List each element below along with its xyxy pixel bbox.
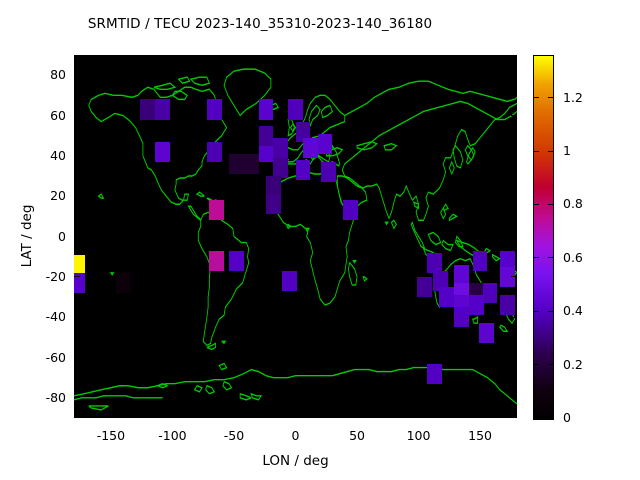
y-tick-mark <box>74 276 80 277</box>
y-tick-label: 40 <box>18 148 66 163</box>
y-tick-mark <box>74 196 80 197</box>
colorbar-tick-mark <box>534 364 539 365</box>
colorbar-label: 0.2 <box>563 357 583 372</box>
y-tick-mark <box>511 115 517 116</box>
y-tick-mark <box>511 155 517 156</box>
y-tick-mark <box>511 317 517 318</box>
y-tick-mark <box>74 115 80 116</box>
heatmap-cell <box>439 287 454 307</box>
x-axis-label: LON / deg <box>74 453 517 469</box>
colorbar-label: 0.6 <box>563 250 583 265</box>
colorbar-tick-mark <box>534 311 539 312</box>
heatmap-cell <box>273 138 288 158</box>
colorbar-tick-mark <box>548 97 553 98</box>
y-tick-mark <box>74 75 80 76</box>
x-tick-mark <box>233 412 234 418</box>
y-tick-mark <box>511 397 517 398</box>
heatmap-cell <box>427 364 442 384</box>
heatmap-cell <box>229 251 244 271</box>
y-tick-label: -60 <box>18 350 66 365</box>
colorbar-label: 1 <box>563 143 571 158</box>
heatmap-cell <box>454 307 469 327</box>
chart-title: SRMTID / TECU 2023-140_35310-2023-140_36… <box>0 16 520 32</box>
heatmap-cell <box>321 162 336 182</box>
figure-canvas: SRMTID / TECU 2023-140_35310-2023-140_36… <box>0 0 640 480</box>
colorbar-tick-mark <box>548 311 553 312</box>
heatmap-cell <box>417 277 432 297</box>
colorbar-label: 0.8 <box>563 196 583 211</box>
colorbar-label: 0.4 <box>563 303 583 318</box>
y-tick-mark <box>74 155 80 156</box>
heatmap-cell <box>140 99 155 119</box>
x-tick-label: 100 <box>389 428 449 443</box>
heatmap-cell <box>343 200 358 220</box>
heatmap-cell <box>155 99 170 119</box>
heatmap-cells <box>74 55 517 418</box>
y-tick-label: 80 <box>18 67 66 82</box>
y-tick-mark <box>74 357 80 358</box>
heatmap-cell <box>244 154 259 174</box>
heatmap-cell <box>259 99 274 119</box>
y-tick-label: -80 <box>18 390 66 405</box>
x-tick-mark <box>172 412 173 418</box>
heatmap-cell <box>207 142 222 162</box>
heatmap-cell <box>209 200 224 220</box>
x-tick-mark <box>418 412 419 418</box>
colorbar-label: 0 <box>563 410 571 425</box>
colorbar-tick-mark <box>534 418 539 419</box>
heatmap-cell <box>155 142 170 162</box>
x-tick-label: -50 <box>204 428 264 443</box>
heatmap-cell <box>273 158 288 178</box>
x-tick-mark <box>480 55 481 61</box>
x-tick-mark <box>357 412 358 418</box>
heatmap-cell <box>469 295 484 315</box>
heatmap-cell <box>207 99 222 119</box>
colorbar-tick-mark <box>548 257 553 258</box>
x-tick-mark <box>110 55 111 61</box>
y-axis-label: LAT / deg <box>19 176 35 296</box>
x-tick-mark <box>357 55 358 61</box>
x-tick-mark <box>110 412 111 418</box>
x-tick-mark <box>418 55 419 61</box>
colorbar-tick-mark <box>534 257 539 258</box>
heatmap-cell <box>266 176 281 196</box>
colorbar-tick-mark <box>534 151 539 152</box>
y-tick-mark <box>511 75 517 76</box>
y-tick-label: 60 <box>18 108 66 123</box>
heatmap-cell <box>288 99 303 119</box>
heatmap-cell <box>209 251 224 271</box>
x-tick-mark <box>295 412 296 418</box>
colorbar <box>533 55 554 420</box>
heatmap-cell <box>473 251 488 271</box>
colorbar-tick-mark <box>534 97 539 98</box>
colorbar-tick-mark <box>534 204 539 205</box>
heatmap-cell <box>303 138 318 158</box>
colorbar-tick-mark <box>548 204 553 205</box>
heatmap-cell <box>479 323 494 343</box>
heatmap-cell <box>296 160 311 180</box>
heatmap-cell <box>229 154 244 174</box>
colorbar-label: 1.2 <box>563 90 583 105</box>
y-tick-mark <box>511 357 517 358</box>
x-tick-mark <box>295 55 296 61</box>
y-tick-mark <box>511 236 517 237</box>
y-tick-mark <box>74 236 80 237</box>
y-tick-mark <box>511 196 517 197</box>
x-tick-mark <box>172 55 173 61</box>
heatmap-cell <box>427 253 442 273</box>
heatmap-cell <box>74 255 85 275</box>
map-plot-area <box>74 55 517 418</box>
x-tick-label: 150 <box>450 428 510 443</box>
colorbar-tick-mark <box>548 418 553 419</box>
heatmap-cell <box>259 126 274 146</box>
x-tick-label: -100 <box>142 428 202 443</box>
heatmap-cell <box>116 273 131 293</box>
colorbar-tick-mark <box>548 151 553 152</box>
y-tick-mark <box>511 276 517 277</box>
x-tick-label: -150 <box>81 428 141 443</box>
y-tick-mark <box>74 317 80 318</box>
y-tick-label: -40 <box>18 309 66 324</box>
x-tick-mark <box>480 412 481 418</box>
heatmap-cell <box>282 271 297 291</box>
x-tick-label: 0 <box>266 428 326 443</box>
colorbar-tick-mark <box>548 364 553 365</box>
heatmap-cell <box>483 283 498 303</box>
heatmap-cell <box>266 194 281 214</box>
x-tick-label: 50 <box>327 428 387 443</box>
x-tick-mark <box>233 55 234 61</box>
heatmap-cell <box>318 134 333 154</box>
y-tick-mark <box>74 397 80 398</box>
heatmap-cell <box>454 265 469 285</box>
heatmap-cell <box>500 295 515 315</box>
